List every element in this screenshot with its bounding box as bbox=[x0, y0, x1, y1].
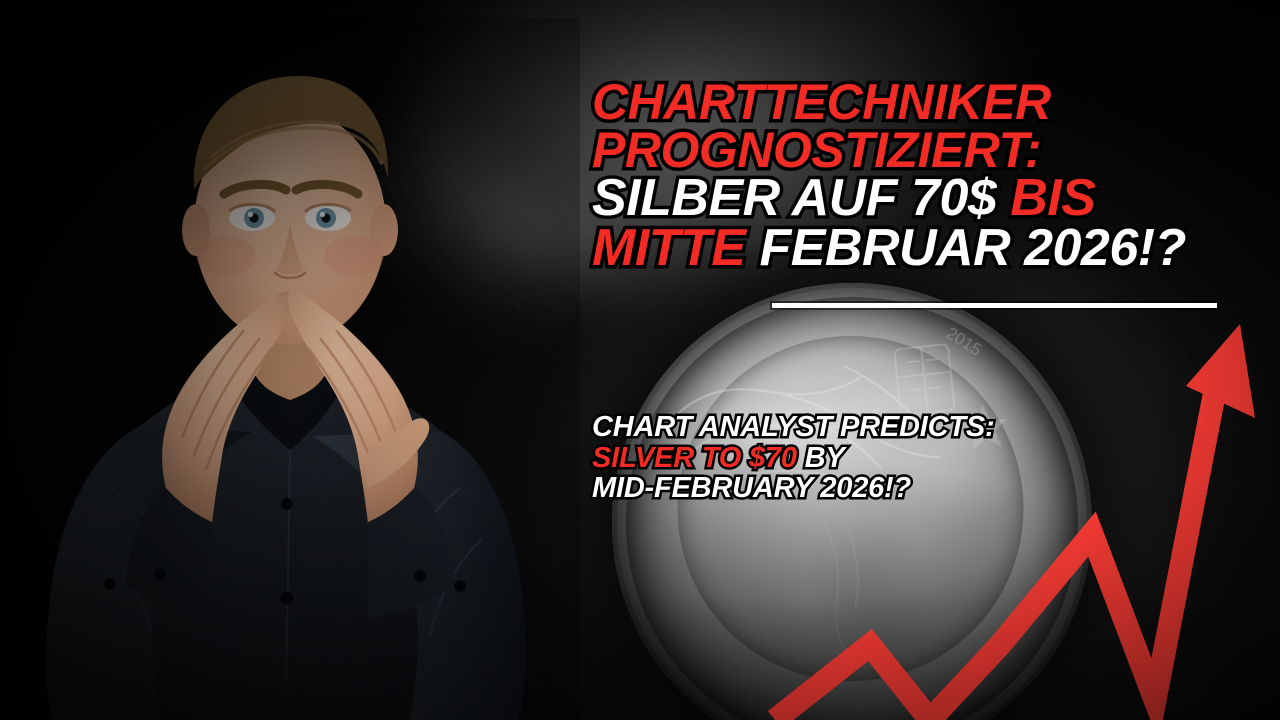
presenter-portrait bbox=[0, 18, 580, 720]
headline-line-3: SILBER AUF 70$ BIS bbox=[592, 174, 1242, 224]
subheadline-line-2: SILVER TO $70 BY bbox=[592, 443, 1152, 474]
subheadline-line-3-text: MID-FEBRUARY 2026!? bbox=[592, 472, 911, 504]
headline-underline bbox=[772, 303, 1217, 308]
eye-left bbox=[229, 204, 275, 231]
headline-line-1: CHARTTECHNIKER bbox=[592, 78, 1242, 126]
subheadline-line-2-white: BY bbox=[797, 442, 845, 474]
headline-line-4-white: FEBRUAR 2026!? bbox=[759, 219, 1185, 277]
subheadline-block: CHART ANALYST PREDICTS: SILVER TO $70 BY… bbox=[592, 412, 1152, 504]
subheadline-line-2-red: SILVER TO $70 bbox=[592, 442, 797, 474]
headline-line-4: MITTE FEBRUAR 2026!? bbox=[592, 224, 1242, 274]
eye-right bbox=[305, 204, 351, 231]
headline-line-4-red: MITTE bbox=[592, 219, 745, 277]
subheadline-line-3: MID-FEBRUARY 2026!? bbox=[592, 473, 1152, 504]
subheadline-line-1: CHART ANALYST PREDICTS: bbox=[592, 412, 1152, 443]
headline-line-2: PROGNOSTIZIERT: bbox=[592, 126, 1242, 174]
thumbnail-canvas: 2015 bbox=[0, 0, 1280, 720]
headline-block: CHARTTECHNIKER PROGNOSTIZIERT: SILBER AU… bbox=[592, 78, 1242, 274]
subheadline-line-1-text: CHART ANALYST PREDICTS: bbox=[592, 411, 994, 443]
upward-trend-arrow bbox=[700, 300, 1280, 720]
